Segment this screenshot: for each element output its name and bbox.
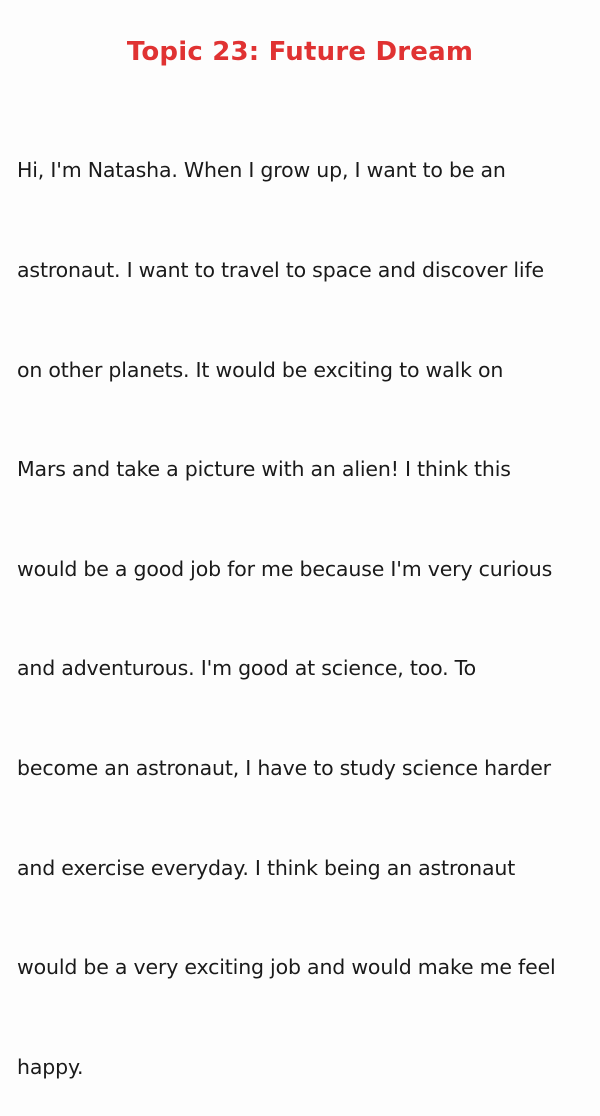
worksheet-page: Topic 23: Future Dream Hi, I'm Natasha. …	[0, 0, 600, 558]
passage-text: Hi, I'm Natasha. When I grow up, I want …	[17, 88, 589, 1116]
passage-line: become an astronaut, I have to study sci…	[17, 752, 589, 785]
passage-line: astronaut. I want to travel to space and…	[17, 254, 589, 287]
passage-line: happy.	[17, 1051, 589, 1084]
page-title: Topic 23: Future Dream	[0, 35, 600, 69]
passage-line: would be a very exciting job and would m…	[17, 951, 589, 984]
passage-line: on other planets. It would be exciting t…	[17, 354, 589, 387]
passage-line: Hi, I'm Natasha. When I grow up, I want …	[17, 154, 589, 187]
passage-line: Mars and take a picture with an alien! I…	[17, 453, 589, 486]
passage-line: and adventurous. I'm good at science, to…	[17, 652, 589, 685]
passage-line: and exercise everyday. I think being an …	[17, 852, 589, 885]
